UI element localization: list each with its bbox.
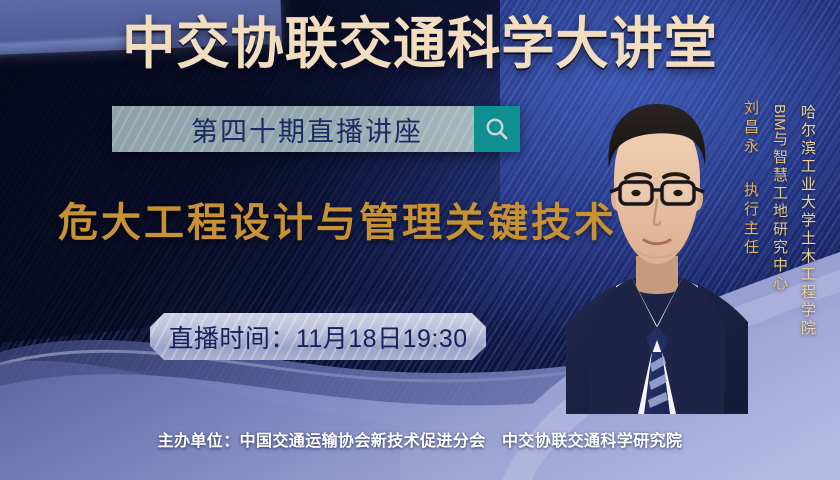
live-time-banner: 直播时间：11月18日19:30 [150,313,486,360]
speaker-school: 哈尔滨工业大学土木工程学院 [797,104,818,338]
episode-badge: 第四十期直播讲座 [112,106,520,152]
speaker-role: 执行主任 [740,182,761,258]
organizers-footer: 主办单位：中国交通运输协会新技术促进分会 中交协联交通科学研究院 [0,427,840,451]
speaker-portrait [566,88,748,414]
speaker-center-rest: 与智慧工地研究中心 [771,131,788,293]
speaker-center: BIM与智慧工地研究中心 [769,104,792,293]
live-time-banner-inner: 直播时间：11月18日19:30 [150,313,486,360]
speaker-name: 刘昌永 [740,100,761,157]
poster-canvas: 中交协联交通科学大讲堂 第四十期直播讲座 危大工程设计与管理关键技术 直播时间：… [0,0,840,480]
episode-badge-label: 第四十期直播讲座 [191,110,423,149]
page-title: 中交协联交通科学大讲堂 [21,14,819,74]
lecture-headline: 危大工程设计与管理关键技术 [58,190,617,248]
live-time-label: 直播时间：11月18日19:30 [168,319,467,355]
search-icon [484,116,510,142]
search-button[interactable] [474,106,520,152]
speaker-center-latin: BIM [771,104,788,131]
episode-badge-label-container: 第四十期直播讲座 [112,106,474,152]
